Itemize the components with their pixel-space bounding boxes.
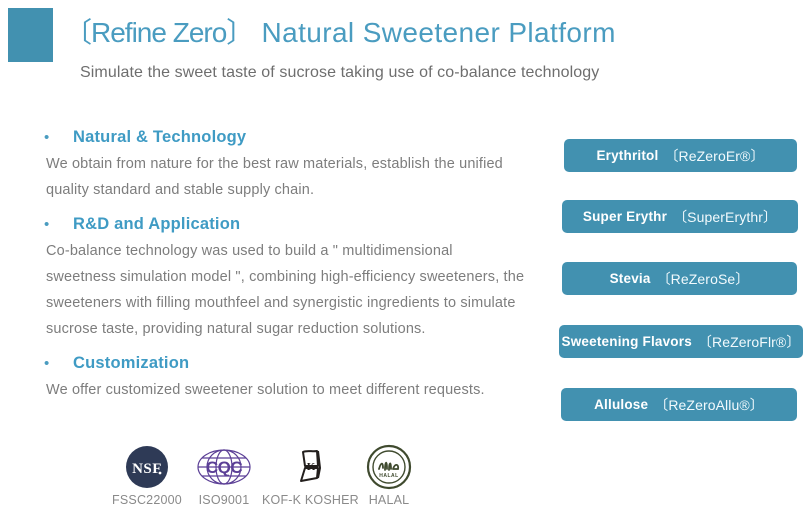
page-title-rest: Natural Sweetener Platform: [253, 17, 616, 48]
svg-text:NSF: NSF: [132, 461, 162, 477]
product-button-super-erythr[interactable]: Super Erythr 〔SuperErythr〕: [562, 200, 798, 233]
product-name: Stevia: [610, 271, 651, 286]
svg-text:K: K: [307, 461, 316, 473]
product-code: 〔SuperErythr〕: [673, 207, 777, 227]
product-code: 〔ReZeroEr®〕: [664, 146, 764, 166]
certification-label: ISO9001: [176, 493, 272, 507]
product-button-stevia[interactable]: Stevia 〔ReZeroSe〕: [562, 262, 797, 295]
cqc-icon: CQC: [176, 444, 272, 490]
product-button-sweetening-flavors[interactable]: Sweetening Flavors 〔ReZeroFlr®〕: [559, 325, 803, 358]
certification-label: HALAL: [341, 493, 437, 507]
product-code: 〔ReZeroFlr®〕: [698, 332, 801, 352]
product-button-erythritol[interactable]: Erythritol 〔ReZeroEr®〕: [564, 139, 797, 172]
certification-row: NSF FSSC22000 CQC ISO9001: [0, 444, 548, 524]
page-title-brand: 〔Refine Zero〕: [64, 17, 253, 48]
svg-text:CQC: CQC: [206, 458, 243, 477]
product-name: Allulose: [594, 397, 648, 412]
product-button-allulose[interactable]: Allulose 〔ReZeroAllu®〕: [561, 388, 797, 421]
page-header: 〔Refine Zero〕 Natural Sweetener Platform…: [0, 0, 809, 100]
page-subtitle: Simulate the sweet taste of sucrose taki…: [80, 64, 599, 82]
product-name: Sweetening Flavors: [562, 334, 692, 349]
halal-icon: HALAL: [341, 444, 437, 490]
product-code: 〔ReZeroSe〕: [657, 269, 750, 289]
certification-item-iso9001: CQC ISO9001: [176, 444, 272, 507]
product-button-list: Erythritol 〔ReZeroEr®〕 Super Erythr 〔Sup…: [0, 139, 809, 429]
product-code: 〔ReZeroAllu®〕: [654, 395, 764, 415]
page-title: 〔Refine Zero〕 Natural Sweetener Platform: [64, 11, 616, 51]
accent-block: [8, 8, 53, 62]
product-name: Erythritol: [596, 148, 658, 163]
svg-text:HALAL: HALAL: [379, 473, 398, 479]
product-name: Super Erythr: [583, 209, 667, 224]
certification-item-halal: HALAL HALAL: [341, 444, 437, 507]
